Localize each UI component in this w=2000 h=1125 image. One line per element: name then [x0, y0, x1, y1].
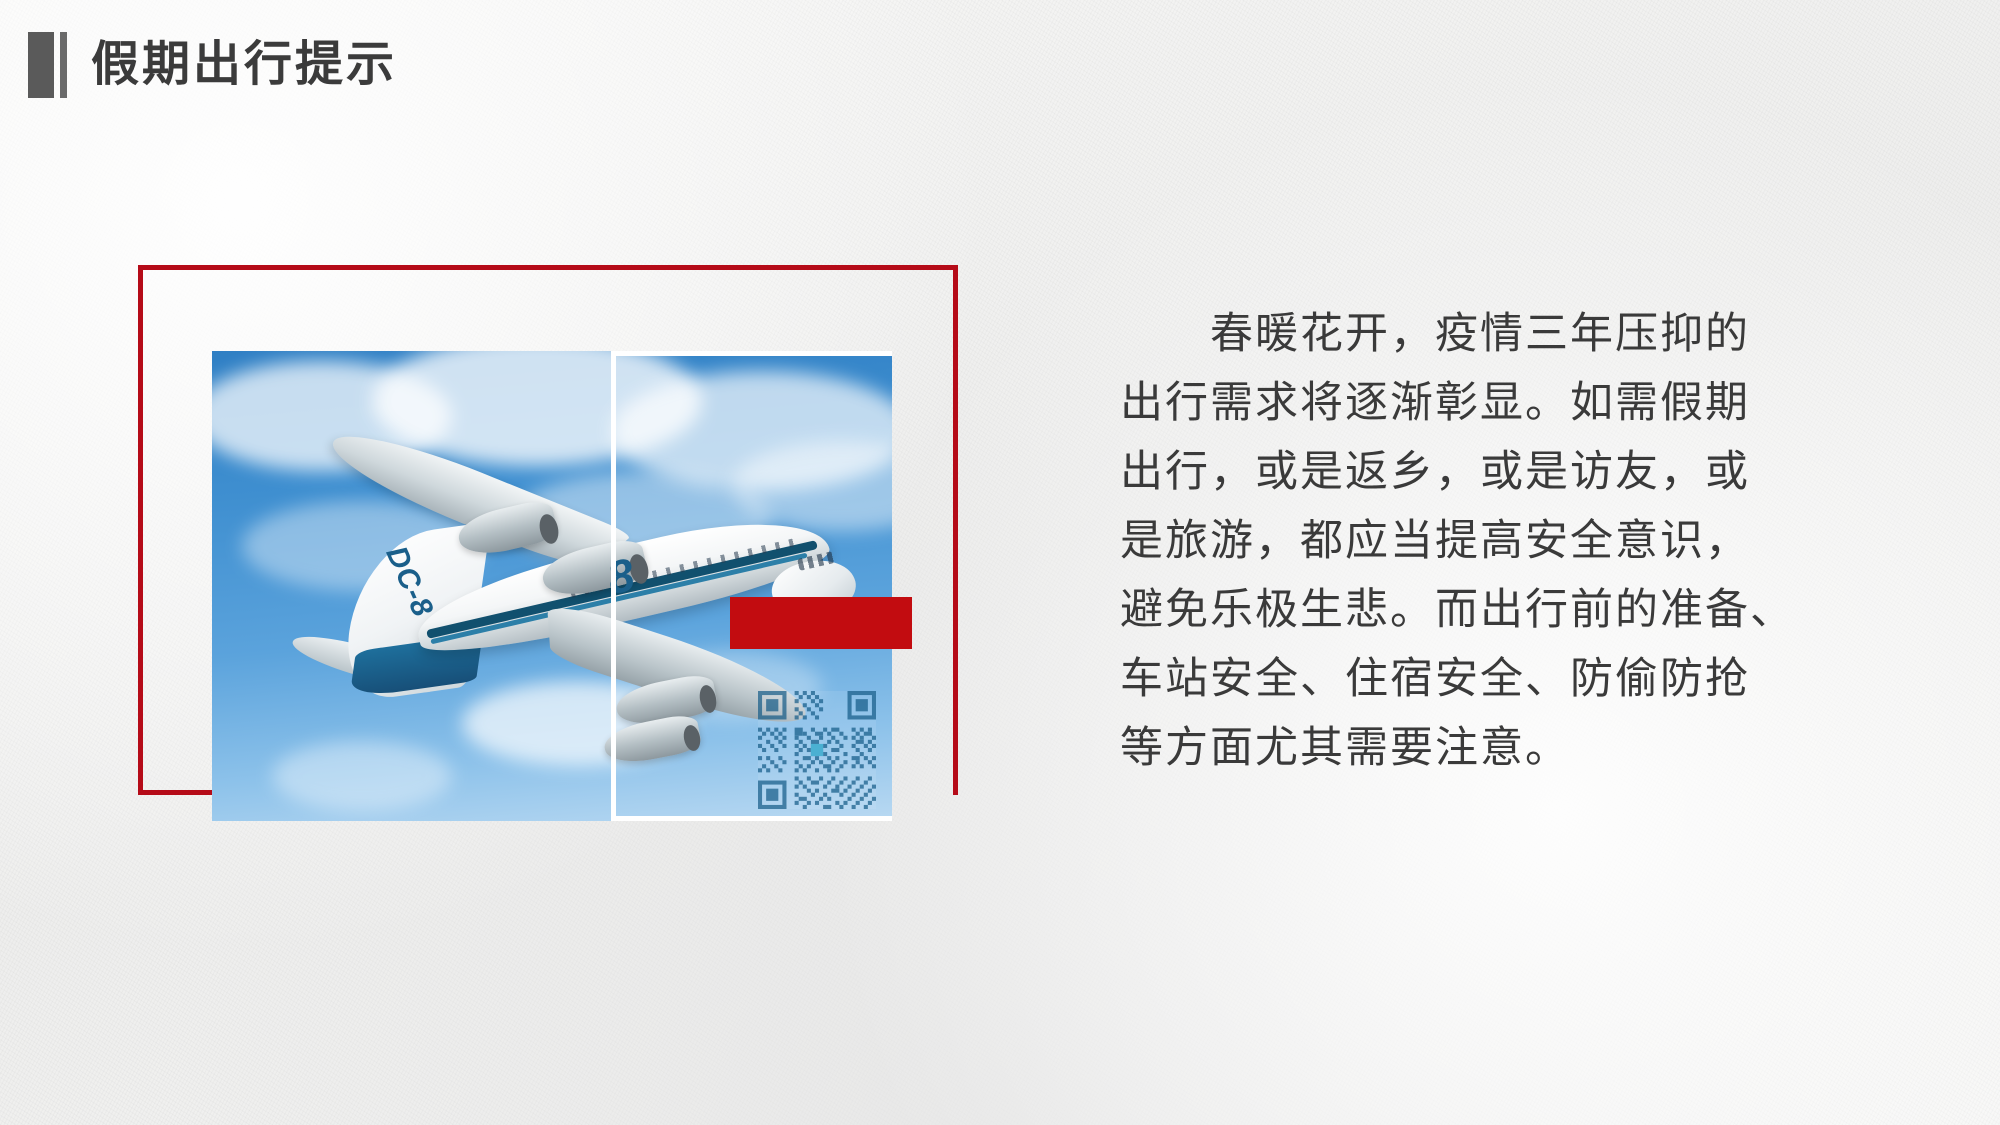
- slide-canvas: 假期出行提示: [0, 0, 2000, 1125]
- body-line: 春暖花开，疫情三年压抑的: [1120, 300, 1850, 369]
- body-line: 出行需求将逐渐彰显。如需假期: [1120, 369, 1850, 438]
- body-line: 是旅游，都应当提高安全意识，: [1120, 507, 1850, 576]
- red-outline-frame-foot-icon: [138, 790, 216, 795]
- body-paragraph: 春暖花开，疫情三年压抑的 出行需求将逐渐彰显。如需假期 出行，或是返乡，或是访友…: [1120, 300, 1850, 783]
- airplane-photo: DC-8 8: [212, 351, 892, 821]
- body-line: 车站安全、住宿安全、防偷防抢: [1120, 645, 1850, 714]
- title-bar-marker-thick-icon: [28, 32, 54, 98]
- page-title: 假期出行提示: [91, 41, 397, 89]
- body-line: 出行，或是返乡，或是访友，或: [1120, 438, 1850, 507]
- page-header: 假期出行提示: [28, 32, 397, 98]
- body-line: 避免乐极生悲。而出行前的准备、: [1120, 576, 1850, 645]
- red-accent-bar-icon: [730, 597, 912, 649]
- visual-group: DC-8 8: [138, 265, 978, 835]
- title-bar-marker-thin-icon: [60, 32, 67, 98]
- body-line: 等方面尤其需要注意。: [1120, 714, 1850, 783]
- qr-code-icon: [758, 691, 876, 809]
